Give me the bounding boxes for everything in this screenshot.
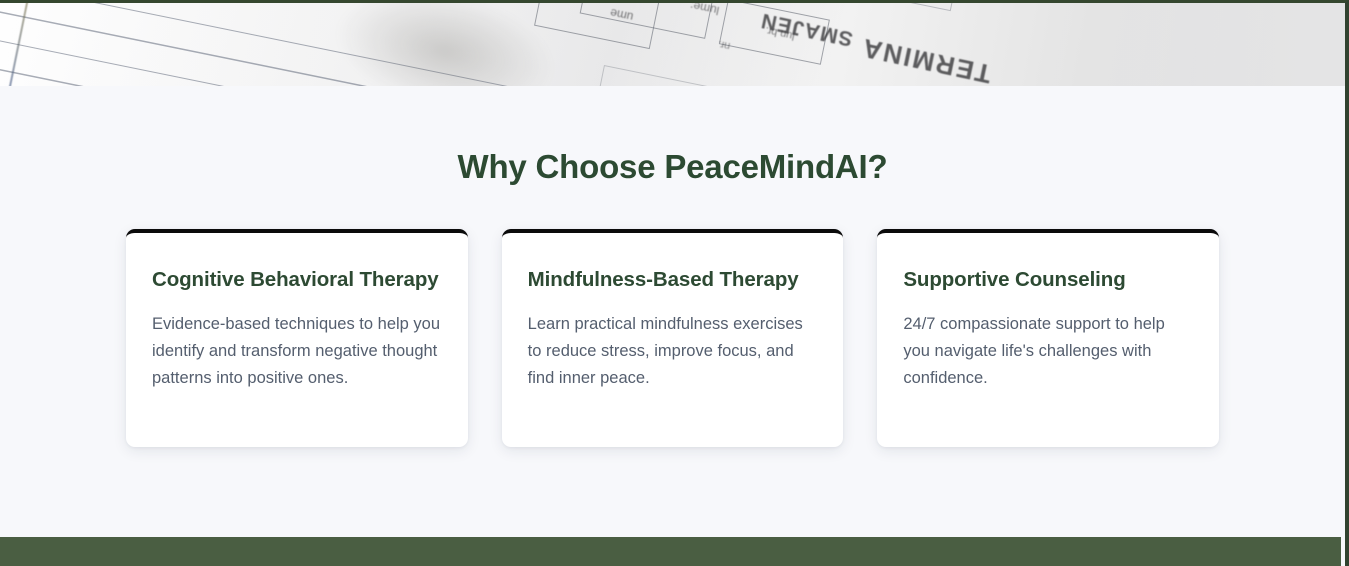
feature-card-title: Cognitive Behavioral Therapy — [152, 265, 442, 295]
feature-card-counseling[interactable]: Supportive Counseling 24/7 compassionate… — [877, 229, 1219, 447]
feature-card-body: Learn practical mindfulness exercises to… — [528, 311, 818, 392]
hero-image: TERMINA SMAJEN ume lume: lun br. nr. — [0, 3, 1345, 86]
feature-card-mindfulness[interactable]: Mindfulness-Based Therapy Learn practica… — [502, 229, 844, 447]
feature-card-body: 24/7 compassionate support to help you n… — [903, 311, 1193, 392]
page-frame: TERMINA SMAJEN ume lume: lun br. nr. Why… — [0, 0, 1349, 566]
feature-card-title: Mindfulness-Based Therapy — [528, 265, 818, 295]
feature-card-body: Evidence-based techniques to help you id… — [152, 311, 442, 392]
site-footer — [0, 537, 1341, 566]
feature-card-cbt[interactable]: Cognitive Behavioral Therapy Evidence-ba… — [126, 229, 468, 447]
paper-shadow-blotch — [320, 3, 570, 86]
photo-text-nr: nr. — [717, 38, 731, 52]
photo-right-fade — [1045, 3, 1345, 86]
feature-cards-row: Cognitive Behavioral Therapy Evidence-ba… — [0, 229, 1345, 447]
section-heading: Why Choose PeaceMindAI? — [0, 148, 1345, 186]
feature-card-title: Supportive Counseling — [903, 265, 1193, 295]
features-section: Why Choose PeaceMindAI? Cognitive Behavi… — [0, 86, 1345, 537]
